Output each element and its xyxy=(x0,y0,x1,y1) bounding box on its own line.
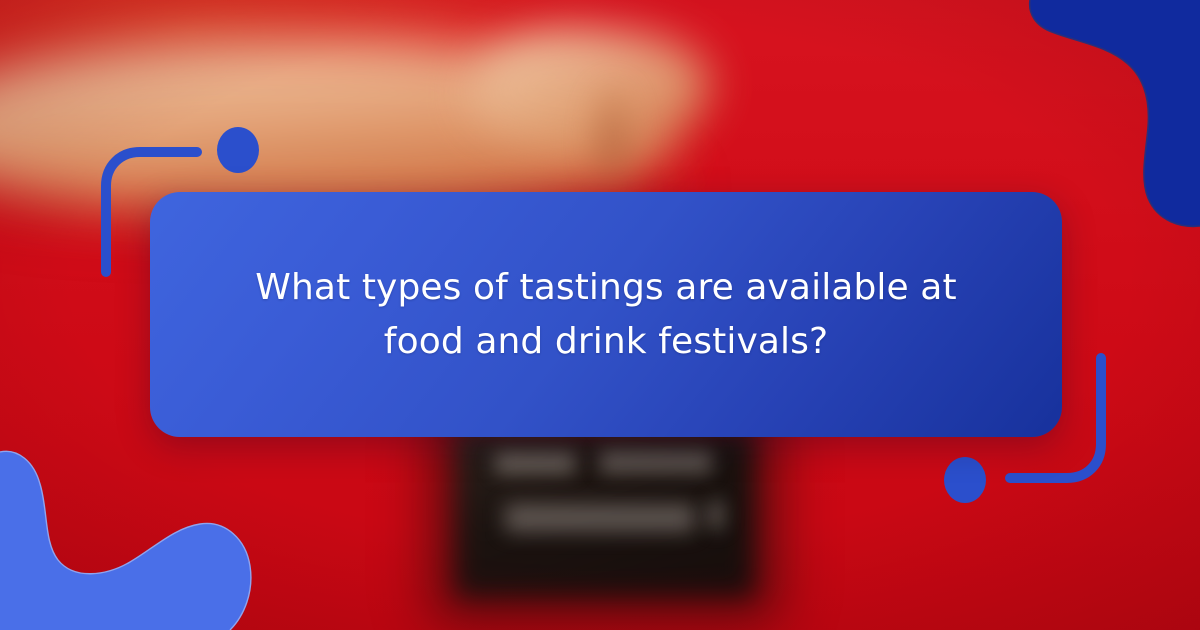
social-card-canvas: What types of tastings are available at … xyxy=(0,0,1200,630)
question-card: What types of tastings are available at … xyxy=(150,192,1062,437)
question-title: What types of tastings are available at … xyxy=(236,261,976,368)
